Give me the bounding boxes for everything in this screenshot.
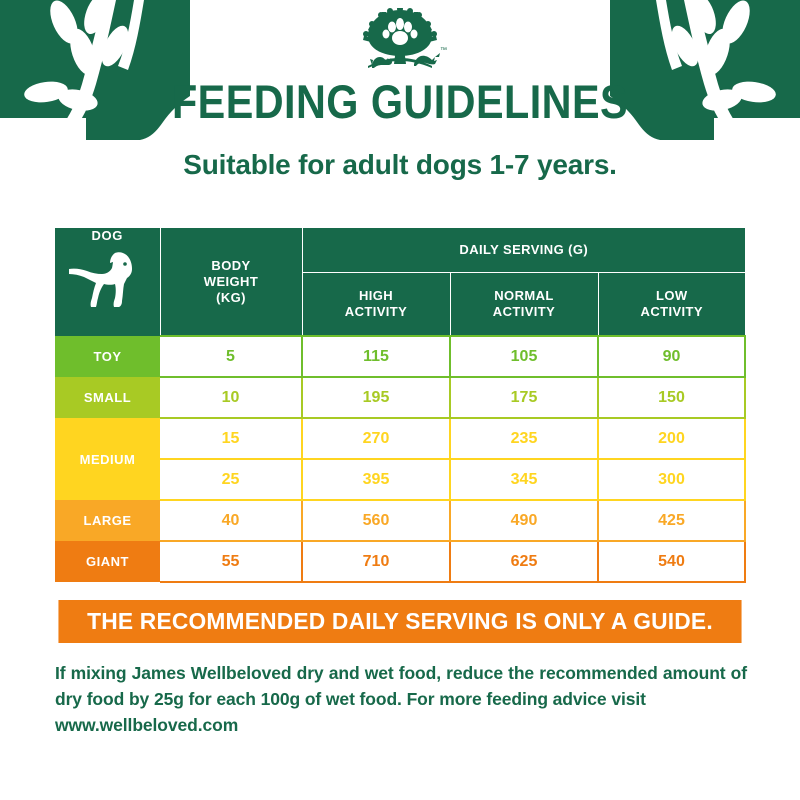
header-label-low-activity-line1: LOW (599, 288, 746, 304)
header-label-low-activity-line2: ACTIVITY (599, 304, 746, 320)
feeding-guidelines-table: DOG BODY WEIGHT (KG) DAILY SERV (55, 228, 745, 583)
cell-toy-weight: 5 (160, 336, 302, 377)
cell-medium-high: 395 (302, 459, 450, 500)
cell-large-high: 560 (302, 500, 450, 541)
row-label-toy: TOY (55, 336, 160, 377)
cell-giant-normal: 625 (450, 541, 598, 582)
header-cell-daily-serving: DAILY SERVING (G) (302, 228, 745, 273)
row-label-giant: GIANT (55, 541, 160, 582)
header-cell-body-weight: BODY WEIGHT (KG) (160, 228, 302, 336)
cell-toy-normal: 105 (450, 336, 598, 377)
table-row: TOY511510590 (55, 336, 745, 377)
table-row: GIANT55710625540 (55, 541, 745, 582)
cell-small-normal: 175 (450, 377, 598, 418)
table-row: SMALL10195175150 (55, 377, 745, 418)
table-body: TOY511510590SMALL10195175150MEDIUM152702… (55, 336, 745, 582)
cell-toy-high: 115 (302, 336, 450, 377)
cell-medium-normal: 235 (450, 418, 598, 459)
brand-logo: ™ (0, 8, 800, 79)
page-title: FEEDING GUIDELINES (48, 76, 752, 128)
cell-small-weight: 10 (160, 377, 302, 418)
header-label-body-weight-line3: (KG) (161, 290, 302, 306)
cell-large-weight: 40 (160, 500, 302, 541)
header-label-normal-activity-line2: ACTIVITY (451, 304, 598, 320)
cell-medium-high: 270 (302, 418, 450, 459)
header-label-body-weight-line2: WEIGHT (161, 274, 302, 290)
cell-small-low: 150 (598, 377, 745, 418)
cell-medium-low: 200 (598, 418, 745, 459)
table-row: MEDIUM15270235200 (55, 418, 745, 459)
row-label-large: LARGE (55, 500, 160, 541)
table-row: LARGE40560490425 (55, 500, 745, 541)
footnote: If mixing James Wellbeloved dry and wet … (55, 660, 747, 738)
cell-large-normal: 490 (450, 500, 598, 541)
cell-medium-normal: 345 (450, 459, 598, 500)
header-label-daily-serving: DAILY SERVING (G) (459, 242, 588, 257)
header-label-dog: DOG (55, 228, 160, 243)
header-cell-low-activity: LOW ACTIVITY (598, 273, 745, 337)
table-header-row-top: DOG BODY WEIGHT (KG) DAILY SERV (55, 228, 745, 273)
dog-silhouette-icon (55, 247, 160, 311)
cell-giant-low: 540 (598, 541, 745, 582)
footnote-website: www.wellbeloved.com (55, 712, 747, 738)
cell-medium-weight: 25 (160, 459, 302, 500)
row-label-medium: MEDIUM (55, 418, 160, 500)
cell-giant-high: 710 (302, 541, 450, 582)
cell-medium-low: 300 (598, 459, 745, 500)
cell-small-high: 195 (302, 377, 450, 418)
header-label-high-activity-line2: ACTIVITY (303, 304, 450, 320)
cell-toy-low: 90 (598, 336, 745, 377)
cell-medium-weight: 15 (160, 418, 302, 459)
header-cell-normal-activity: NORMAL ACTIVITY (450, 273, 598, 337)
page-subtitle: Suitable for adult dogs 1-7 years. (0, 148, 800, 182)
guide-disclaimer-banner: THE RECOMMENDED DAILY SERVING IS ONLY A … (58, 600, 741, 643)
header-label-high-activity-line1: HIGH (303, 288, 450, 304)
cell-giant-weight: 55 (160, 541, 302, 582)
guide-disclaimer-text: THE RECOMMENDED DAILY SERVING IS ONLY A … (87, 608, 713, 635)
trademark-symbol: ™ (440, 47, 447, 54)
row-label-small: SMALL (55, 377, 160, 418)
header-label-normal-activity-line1: NORMAL (451, 288, 598, 304)
header-cell-dog: DOG (55, 228, 160, 336)
header-cell-high-activity: HIGH ACTIVITY (302, 273, 450, 337)
header-label-body-weight-line1: BODY (161, 258, 302, 274)
cell-large-low: 425 (598, 500, 745, 541)
footnote-paragraph: If mixing James Wellbeloved dry and wet … (55, 663, 747, 709)
